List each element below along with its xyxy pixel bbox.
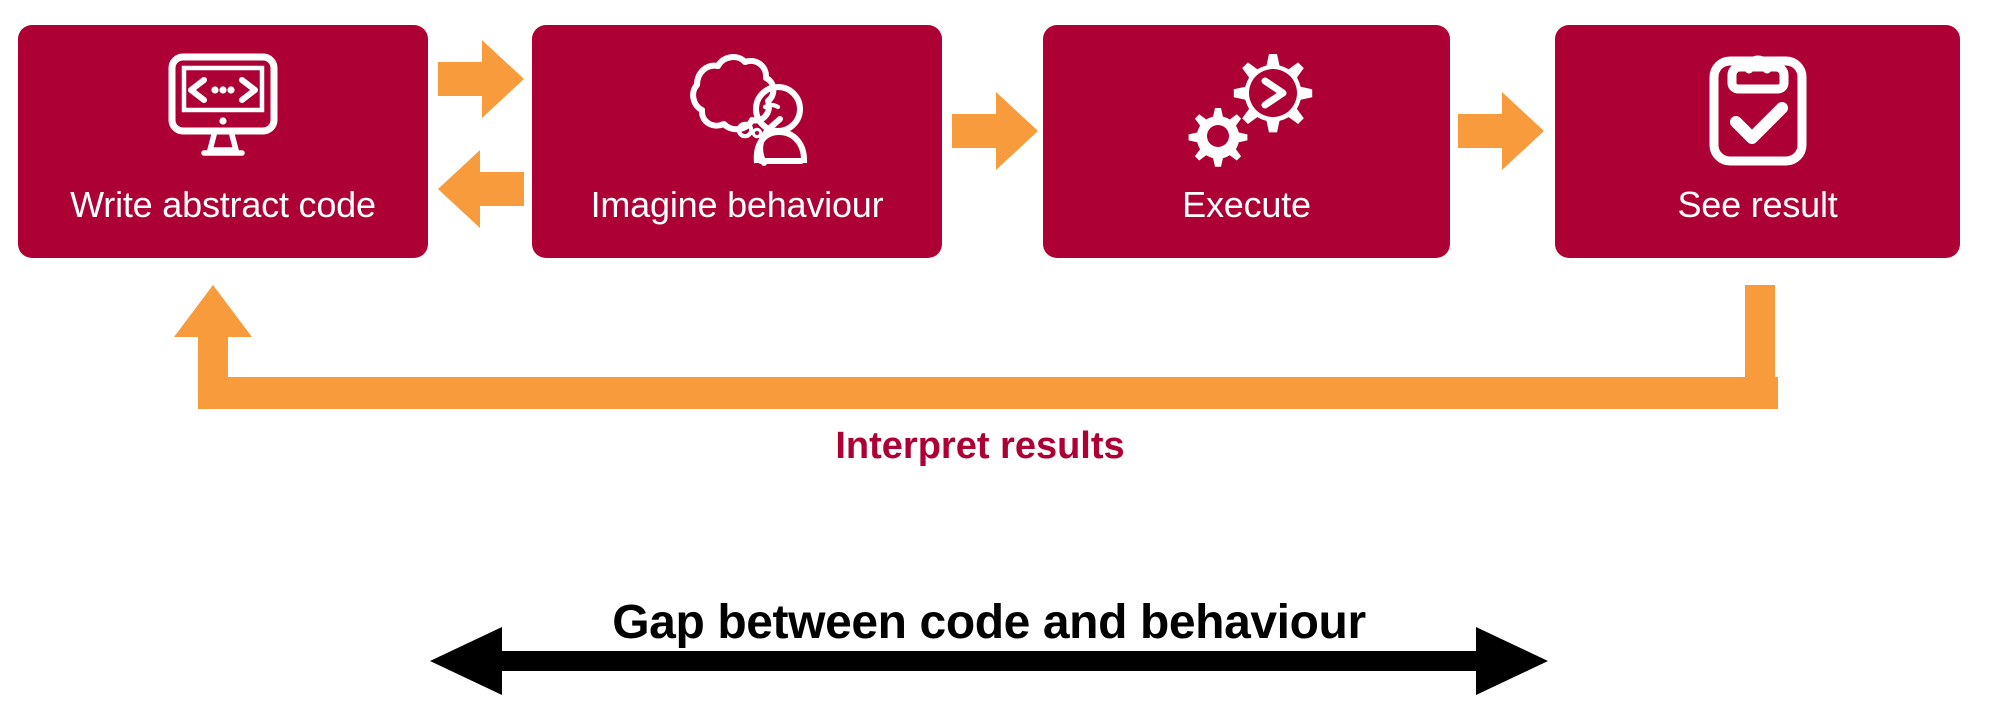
arrow-code-to-imagine — [438, 38, 524, 120]
card-see-result[interactable]: See result — [1555, 25, 1960, 258]
interpret-results-loop-arrow — [170, 285, 1790, 420]
card-label: Imagine behaviour — [532, 186, 942, 224]
card-execute[interactable]: Execute — [1043, 25, 1450, 258]
arrow-imagine-to-execute — [952, 90, 1038, 172]
card-label: See result — [1555, 186, 1960, 224]
card-label: Write abstract code — [18, 186, 428, 224]
clipboard-check-icon — [1555, 47, 1960, 167]
monitor-code-icon — [18, 47, 428, 167]
card-label: Execute — [1043, 186, 1450, 224]
gears-play-icon — [1043, 47, 1450, 167]
interpret-results-label: Interpret results — [580, 425, 1380, 468]
arrow-execute-to-result — [1458, 90, 1544, 172]
thinking-person-icon — [532, 47, 942, 167]
gap-double-headed-arrow — [430, 627, 1548, 695]
card-imagine-behaviour[interactable]: Imagine behaviour — [532, 25, 942, 258]
card-write-abstract-code[interactable]: Write abstract code — [18, 25, 428, 258]
arrow-imagine-to-code — [438, 148, 524, 230]
diagram-canvas: Write abstract code — [0, 0, 1998, 717]
